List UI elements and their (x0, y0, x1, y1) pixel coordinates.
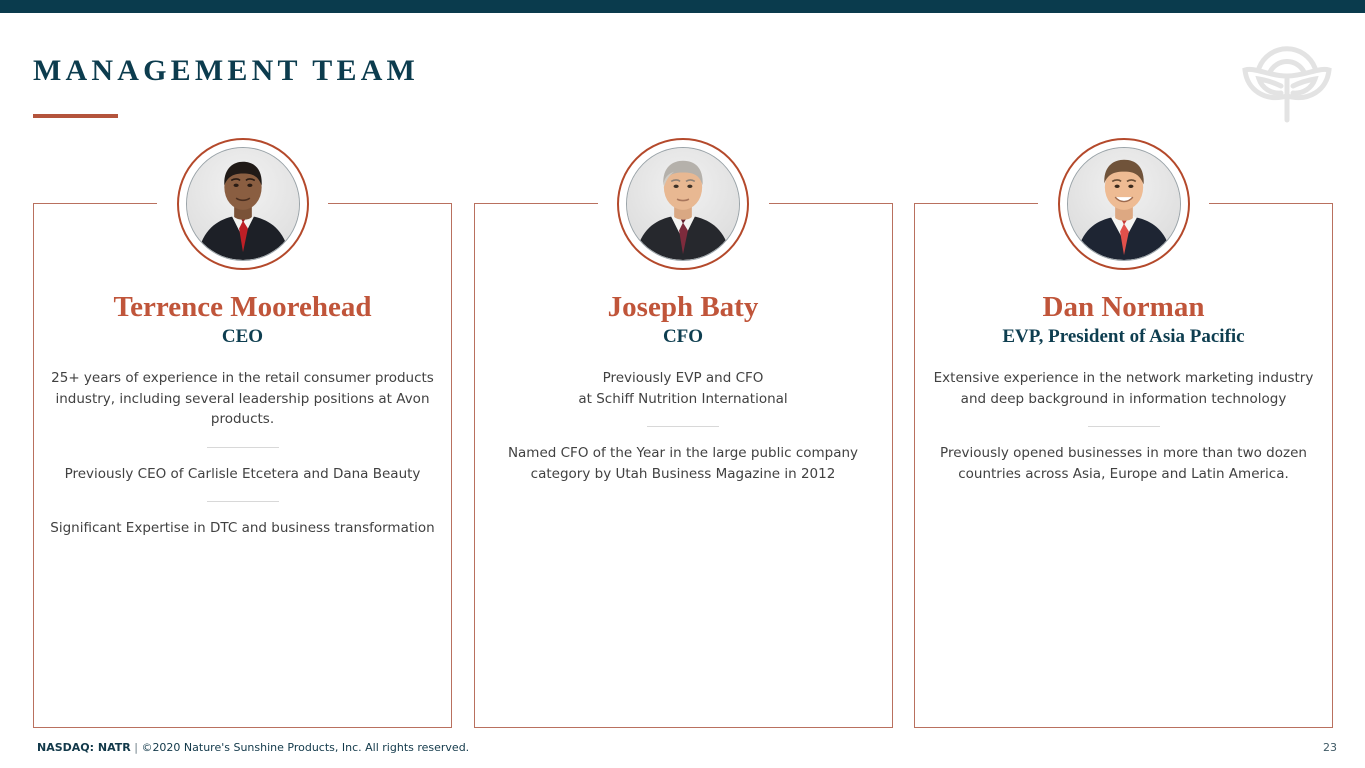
person-name: Terrence Moorehead (48, 292, 437, 323)
bio-paragraph: Previously opened businesses in more tha… (929, 443, 1318, 484)
bio-divider (207, 447, 279, 448)
team-member-card: Joseph Baty CFO Previously EVP and CFO a… (474, 203, 893, 728)
avatar (177, 138, 309, 270)
card-top-border-left (914, 203, 1038, 204)
team-member-card: Terrence Moorehead CEO 25+ years of expe… (33, 203, 452, 728)
person-name: Joseph Baty (489, 292, 878, 323)
page-title: MANAGEMENT TEAM (33, 54, 419, 88)
portrait-dan-norman (1068, 148, 1180, 260)
bio-paragraph: Named CFO of the Year in the large publi… (489, 443, 878, 484)
card-top-border-right (1209, 203, 1333, 204)
person-role: CEO (48, 326, 437, 348)
avatar (1058, 138, 1190, 270)
bio-divider (1088, 426, 1160, 427)
avatar-inner-ring (186, 147, 300, 261)
person-bio: 25+ years of experience in the retail co… (48, 368, 437, 539)
person-bio: Extensive experience in the network mark… (929, 368, 1318, 484)
natures-sunshine-leaf-logo-icon (1237, 24, 1337, 124)
bio-paragraph: Previously CEO of Carlisle Etcetera and … (48, 464, 437, 485)
person-role: EVP, President of Asia Pacific (929, 326, 1318, 348)
person-name: Dan Norman (929, 292, 1318, 323)
page-number: 23 (1323, 741, 1337, 754)
footer-separator: | (134, 741, 138, 754)
portrait-joseph-baty (627, 148, 739, 260)
bio-paragraph: Previously EVP and CFO at Schiff Nutriti… (489, 368, 878, 409)
bio-paragraph: Extensive experience in the network mark… (929, 368, 1318, 409)
card-top-border-right (328, 203, 452, 204)
footer-copyright: ©2020 Nature's Sunshine Products, Inc. A… (141, 741, 469, 754)
title-underline-accent (33, 114, 118, 118)
bio-divider (207, 501, 279, 502)
person-bio: Previously EVP and CFO at Schiff Nutriti… (489, 368, 878, 484)
card-content: Dan Norman EVP, President of Asia Pacifi… (915, 292, 1332, 484)
top-accent-bar (0, 0, 1365, 13)
portrait-terrence-moorehead (187, 148, 299, 260)
management-team-card-row: Terrence Moorehead CEO 25+ years of expe… (33, 203, 1333, 728)
footer-ticker: NASDAQ: NATR (37, 741, 131, 754)
card-top-border-left (33, 203, 157, 204)
footer: NASDAQ: NATR | ©2020 Nature's Sunshine P… (37, 741, 469, 754)
bio-paragraph: 25+ years of experience in the retail co… (48, 368, 437, 430)
card-content: Terrence Moorehead CEO 25+ years of expe… (34, 292, 451, 539)
bio-paragraph: Significant Expertise in DTC and busines… (48, 518, 437, 539)
team-member-card: Dan Norman EVP, President of Asia Pacifi… (914, 203, 1333, 728)
avatar (617, 138, 749, 270)
avatar-inner-ring (1067, 147, 1181, 261)
person-role: CFO (489, 326, 878, 348)
card-top-border-left (474, 203, 598, 204)
avatar-inner-ring (626, 147, 740, 261)
card-top-border-right (769, 203, 893, 204)
card-content: Joseph Baty CFO Previously EVP and CFO a… (475, 292, 892, 484)
bio-divider (647, 426, 719, 427)
